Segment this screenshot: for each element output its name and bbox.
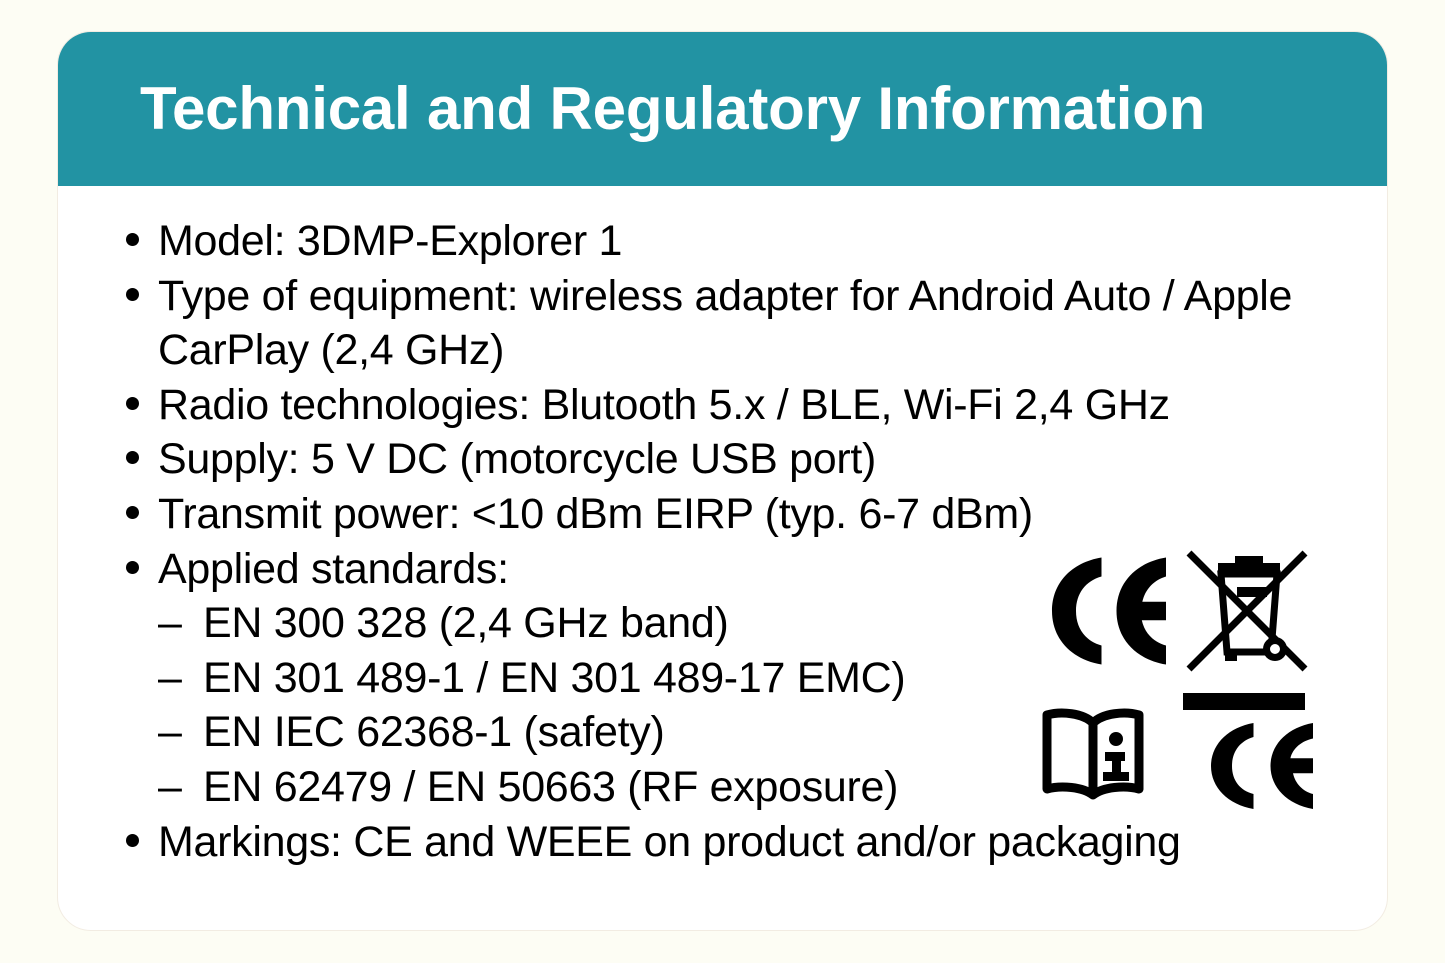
list-item: Radio technologies: Blutooth 5.x / BLE, … xyxy=(58,378,1387,433)
bullet-dot-icon xyxy=(126,397,139,410)
list-item: Markings: CE and WEEE on product and/or … xyxy=(58,815,1387,870)
standard-en-iec-62368-1: EN IEC 62368-1 (safety) xyxy=(203,708,665,756)
spec-applied-standards: Applied standards: xyxy=(158,542,1387,597)
bullet-dot-icon xyxy=(126,561,139,574)
spec-equipment-type: Type of equipment: wireless adapter for … xyxy=(158,269,1348,378)
spec-transmit-power: Transmit power: <10 dBm EIRP (typ. 6-7 d… xyxy=(158,487,1387,542)
card-header: Technical and Regulatory Information xyxy=(58,32,1387,186)
bullet-dot-icon xyxy=(126,451,139,464)
list-item: Applied standards: – EN 300 328 (2,4 GHz… xyxy=(58,542,1387,815)
standard-en-301-489: EN 301 489-1 / EN 301 489-17 EMC) xyxy=(203,654,905,702)
bullet-dot-icon xyxy=(126,834,139,847)
technical-info-card: Technical and Regulatory Information xyxy=(57,31,1388,931)
screenshot-root: Technical and Regulatory Information xyxy=(0,0,1445,963)
list-item: Supply: 5 V DC (motorcycle USB port) xyxy=(58,432,1387,487)
list-item: – EN 301 489-1 / EN 301 489-17 EMC) xyxy=(158,651,1387,706)
standard-en-300-328: EN 300 328 (2,4 GHz band) xyxy=(203,599,729,647)
list-item: – EN 300 328 (2,4 GHz band) xyxy=(158,596,1387,651)
bullet-dot-icon xyxy=(126,288,139,301)
list-item: – EN IEC 62368-1 (safety) xyxy=(158,705,1387,760)
dash-marker-icon: – xyxy=(158,651,182,706)
list-item: – EN 62479 / EN 50663 (RF exposure) xyxy=(158,760,1387,815)
dash-marker-icon: – xyxy=(158,705,182,760)
spec-supply: Supply: 5 V DC (motorcycle USB port) xyxy=(158,432,1387,487)
bullet-dot-icon xyxy=(126,506,139,519)
applied-standards-sublist: – EN 300 328 (2,4 GHz band) – EN 301 489… xyxy=(158,596,1387,814)
list-item: Transmit power: <10 dBm EIRP (typ. 6-7 d… xyxy=(58,487,1387,542)
bullet-dot-icon xyxy=(126,233,139,246)
dash-marker-icon: – xyxy=(158,596,182,651)
page-title: Technical and Regulatory Information xyxy=(140,79,1205,139)
list-item: Model: 3DMP-Explorer 1 xyxy=(58,214,1387,269)
dash-marker-icon: – xyxy=(158,760,182,815)
standard-en-62479-50663: EN 62479 / EN 50663 (RF exposure) xyxy=(203,763,898,811)
card-body: Model: 3DMP-Explorer 1 Type of equipment… xyxy=(58,186,1387,931)
spec-markings: Markings: CE and WEEE on product and/or … xyxy=(158,815,1387,870)
list-item: Type of equipment: wireless adapter for … xyxy=(58,269,1387,378)
spec-radio-technologies: Radio technologies: Blutooth 5.x / BLE, … xyxy=(158,378,1387,433)
specifications-list: Model: 3DMP-Explorer 1 Type of equipment… xyxy=(58,214,1387,869)
spec-model: Model: 3DMP-Explorer 1 xyxy=(158,214,1387,269)
